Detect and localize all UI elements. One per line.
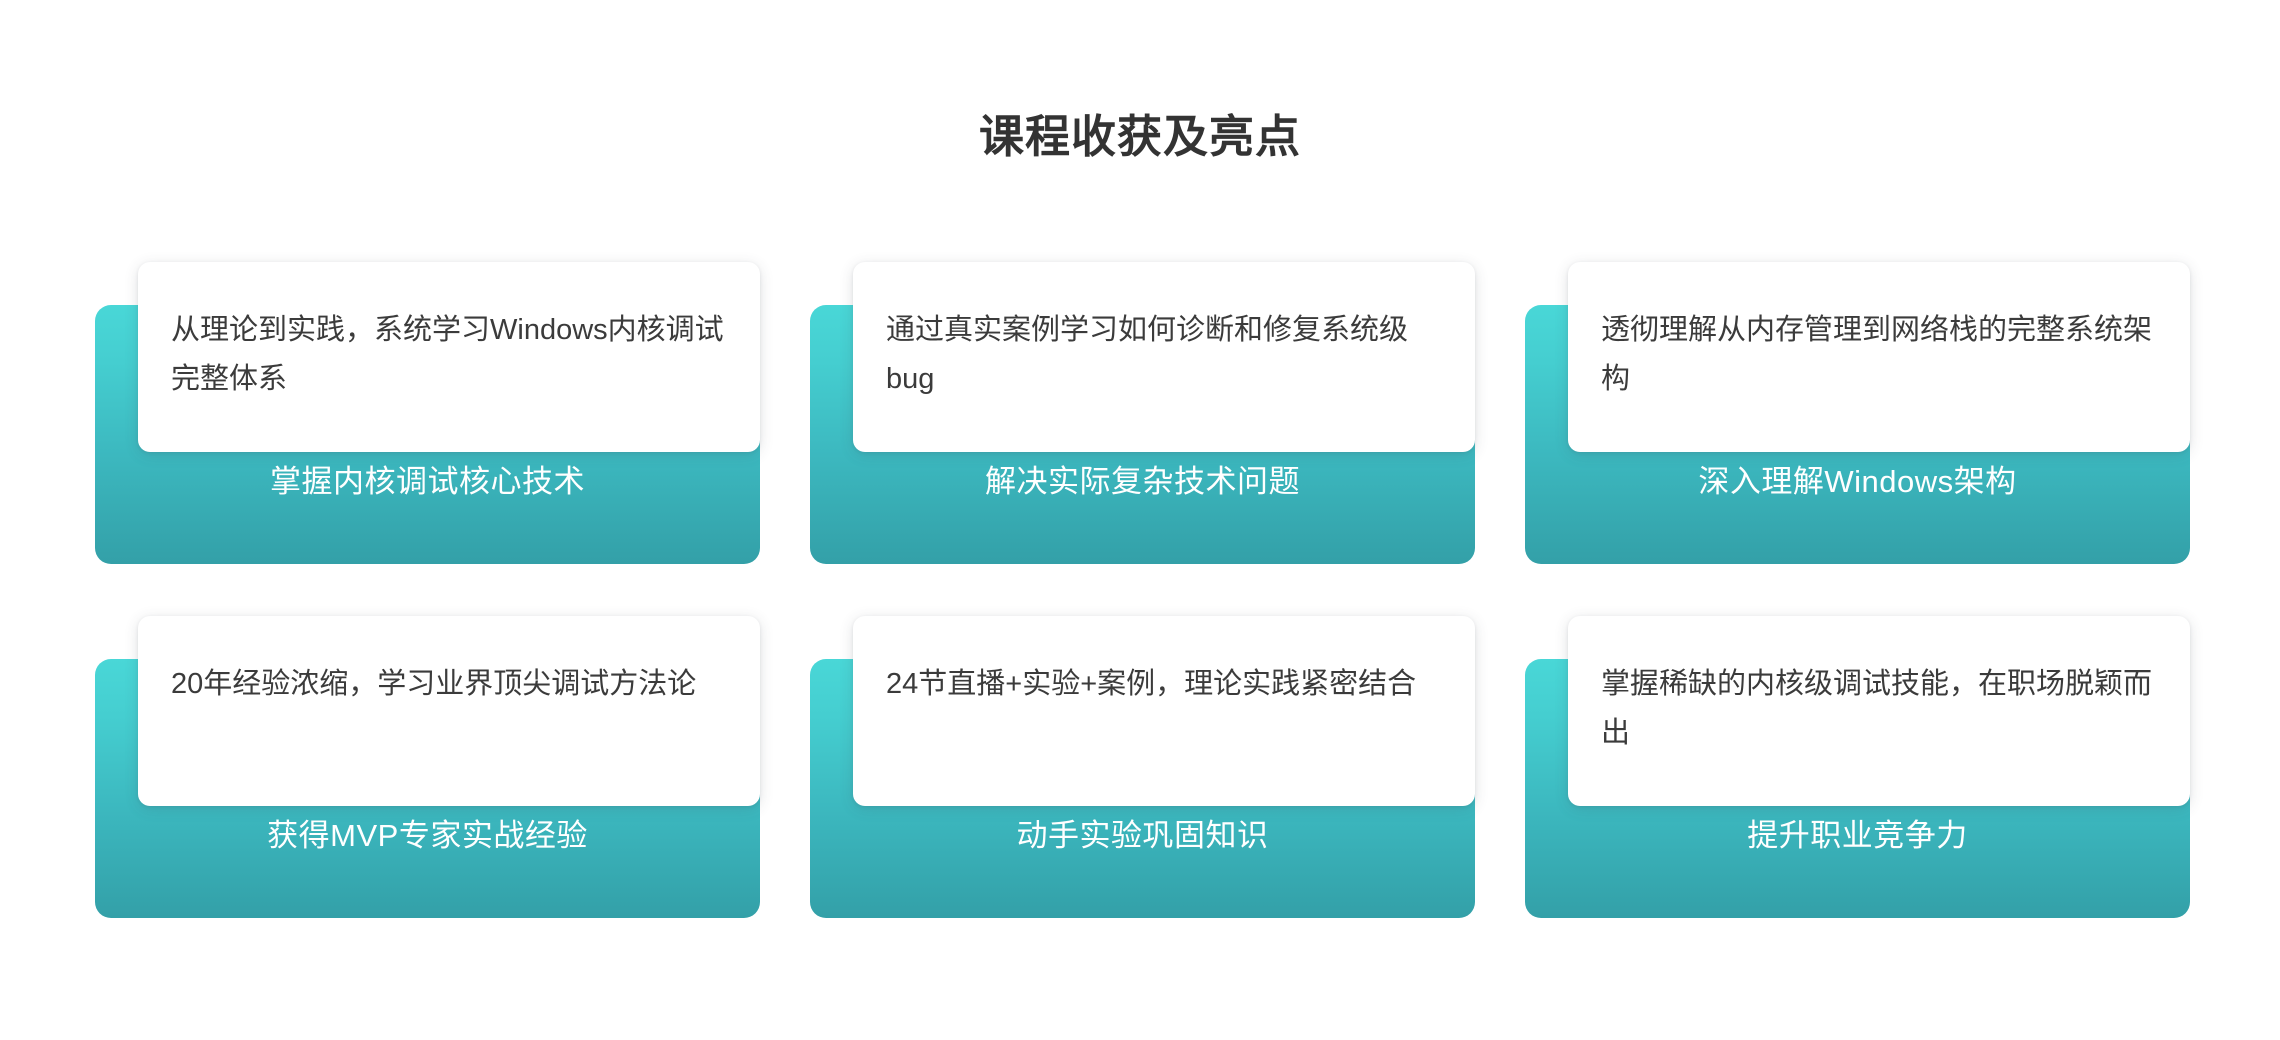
benefit-card-white-panel: 从理论到实践，系统学习Windows内核调试完整体系 <box>138 262 760 452</box>
benefit-card[interactable]: 透彻理解从内存管理到网络栈的完整系统架构 深入理解Windows架构 <box>1525 262 2190 564</box>
benefits-card-grid: 从理论到实践，系统学习Windows内核调试完整体系 掌握内核调试核心技术 通过… <box>95 262 2188 918</box>
benefit-card[interactable]: 掌握稀缺的内核级调试技能，在职场脱颖而出 提升职业竞争力 <box>1525 616 2190 918</box>
page-root: 课程收获及亮点 从理论到实践，系统学习Windows内核调试完整体系 掌握内核调… <box>0 0 2280 1040</box>
benefit-card-label: 解决实际复杂技术问题 <box>810 461 1475 503</box>
benefit-card[interactable]: 从理论到实践，系统学习Windows内核调试完整体系 掌握内核调试核心技术 <box>95 262 760 564</box>
benefit-card-label: 深入理解Windows架构 <box>1525 461 2190 503</box>
benefit-card-white-panel: 20年经验浓缩，学习业界顶尖调试方法论 <box>138 616 760 806</box>
benefit-card-white-panel: 通过真实案例学习如何诊断和修复系统级bug <box>853 262 1475 452</box>
benefit-card-description: 通过真实案例学习如何诊断和修复系统级bug <box>886 306 1442 404</box>
benefit-card-description: 掌握稀缺的内核级调试技能，在职场脱颖而出 <box>1601 660 2157 758</box>
benefit-card-description: 20年经验浓缩，学习业界顶尖调试方法论 <box>171 660 727 709</box>
benefit-card-label: 获得MVP专家实战经验 <box>95 815 760 857</box>
benefit-card[interactable]: 通过真实案例学习如何诊断和修复系统级bug 解决实际复杂技术问题 <box>810 262 1475 564</box>
benefit-card-white-panel: 掌握稀缺的内核级调试技能，在职场脱颖而出 <box>1568 616 2190 806</box>
benefit-card-label: 掌握内核调试核心技术 <box>95 461 760 503</box>
benefit-card-label: 动手实验巩固知识 <box>810 815 1475 857</box>
benefit-card-label: 提升职业竞争力 <box>1525 815 2190 857</box>
benefit-card-description: 24节直播+实验+案例，理论实践紧密结合 <box>886 660 1442 709</box>
benefit-card-white-panel: 透彻理解从内存管理到网络栈的完整系统架构 <box>1568 262 2190 452</box>
benefit-card-white-panel: 24节直播+实验+案例，理论实践紧密结合 <box>853 616 1475 806</box>
benefit-card-description: 透彻理解从内存管理到网络栈的完整系统架构 <box>1601 306 2157 404</box>
benefit-card[interactable]: 20年经验浓缩，学习业界顶尖调试方法论 获得MVP专家实战经验 <box>95 616 760 918</box>
page-title: 课程收获及亮点 <box>0 108 2280 166</box>
benefit-card-description: 从理论到实践，系统学习Windows内核调试完整体系 <box>171 306 727 404</box>
benefit-card[interactable]: 24节直播+实验+案例，理论实践紧密结合 动手实验巩固知识 <box>810 616 1475 918</box>
